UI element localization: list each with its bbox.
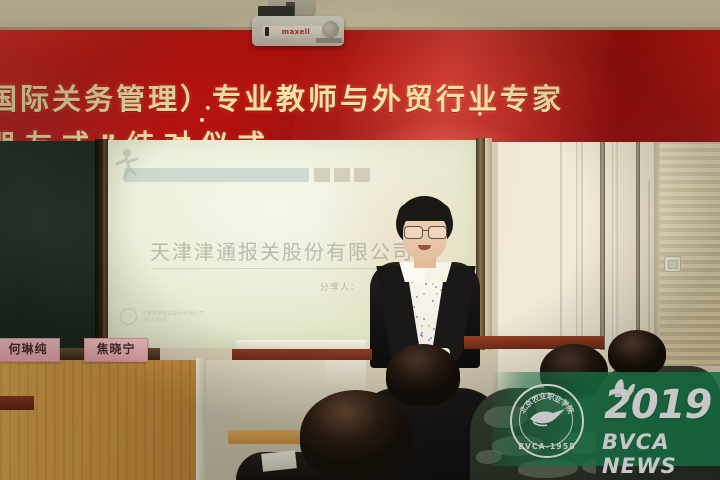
blind-slat [660, 236, 720, 240]
upper-wall [0, 0, 720, 30]
blouse-pattern-dot [430, 337, 432, 339]
slide-corner-logo: 天津津通报关股份有限公司 JIN TONG [120, 308, 205, 325]
audience-head-a [300, 390, 412, 480]
blind-slat [660, 308, 720, 312]
audience-head-b [386, 344, 460, 406]
lectern-top [236, 340, 366, 349]
slide-logo-mark [120, 308, 137, 325]
slide-accent-bar [124, 168, 309, 182]
handout-paper [261, 450, 297, 471]
blind-slat [660, 164, 720, 168]
nameplate-2: 焦晓宁 [84, 338, 148, 362]
broadcast-watermark: 北京农业职业学院 BVCA-1958 2019 BVCA NEWS [492, 372, 720, 466]
banner-text-line-1: 国际关务管理）专业教师与外贸行业专家 [0, 76, 564, 118]
blouse-pattern-dot [416, 296, 418, 298]
blouse-pattern-dot [423, 293, 425, 295]
blind-slat [660, 316, 720, 320]
hanging-wire-2 [648, 180, 650, 350]
blind-slat [660, 172, 720, 176]
slide-logo-text-en: JIN TONG [141, 317, 205, 323]
blouse-pattern-dot [436, 293, 438, 295]
screenshot-root: 国际关务管理）专业教师与外贸行业专家 朋友式”结对仪式 maxell 天津津通报… [0, 0, 720, 480]
projector-brand-label: maxell [276, 27, 316, 37]
blouse-pattern-dot [416, 316, 418, 318]
blouse-pattern-dot [428, 325, 430, 327]
seal-english-text: BVCA-1958 [512, 442, 582, 451]
desk-divider-post [196, 358, 206, 480]
blind-slat [660, 180, 720, 184]
slide-square-1 [314, 168, 330, 182]
blouse-pattern-dot [433, 328, 435, 330]
blouse-pattern-dot [435, 286, 437, 288]
presenter-glasses-left [404, 226, 423, 239]
blind-slat [660, 220, 720, 224]
left-desk-edge [0, 396, 34, 410]
blouse-pattern-dot [432, 283, 434, 285]
projector-sticker [316, 38, 342, 43]
blouse-pattern-dot [428, 339, 430, 341]
nameplate-1: 何琳纯 [0, 338, 60, 362]
blind-slat [660, 228, 720, 232]
hanging-wire-1 [560, 140, 562, 352]
blind-slat [660, 204, 720, 208]
watermark-news-label: BVCA NEWS [602, 430, 720, 478]
blouse-pattern-dot [432, 300, 434, 302]
blind-slat [660, 148, 720, 152]
blind-slat [660, 276, 720, 280]
slide-square-2 [334, 168, 350, 182]
blind-slat [660, 300, 720, 304]
blind-slat [660, 292, 720, 296]
blind-slat [660, 188, 720, 192]
watermark-year: 2019 [604, 382, 711, 428]
blind-slat [660, 244, 720, 248]
blind-slat [660, 356, 720, 360]
slide-logo-text-cn: 天津津通报关股份有限公司 [141, 311, 205, 317]
light-switch[interactable] [664, 256, 681, 272]
blind-slat [660, 348, 720, 352]
blind-slat [660, 156, 720, 160]
blind-slat [660, 284, 720, 288]
lectern-wood-edge [232, 349, 372, 360]
presenter-glasses-bridge [422, 230, 428, 231]
blind-slat [660, 212, 720, 216]
blackboard-frame [101, 139, 108, 350]
blouse-pattern-dot [421, 335, 423, 337]
banner-pin-2 [200, 118, 204, 122]
desk-wood-grain [0, 360, 196, 480]
projector-lens [322, 21, 339, 38]
blouse-pattern-dot [425, 283, 427, 285]
college-seal-icon: 北京农业职业学院 BVCA-1958 [510, 384, 584, 458]
presenter-glasses-right [428, 226, 447, 239]
blouse-pattern-dot [413, 306, 415, 308]
presenter-fringe [398, 203, 451, 221]
audience-head-d [608, 330, 666, 376]
blind-slat [660, 340, 720, 344]
blind-slat [660, 332, 720, 336]
blouse-pattern-dot [421, 325, 423, 327]
projector-indicator [265, 27, 269, 36]
blouse-pattern-dot [423, 318, 425, 320]
blackboard [0, 141, 101, 348]
blouse-pattern-dot [421, 332, 423, 334]
slide-square-3 [354, 168, 370, 182]
front-desk-panel [0, 360, 196, 480]
red-ceremony-banner: 国际关务管理）专业教师与外贸行业专家 朋友式”结对仪式 [0, 30, 720, 142]
blind-slat [660, 324, 720, 328]
slide-presenter-label: 分享人： [320, 280, 360, 293]
blind-slat [660, 196, 720, 200]
